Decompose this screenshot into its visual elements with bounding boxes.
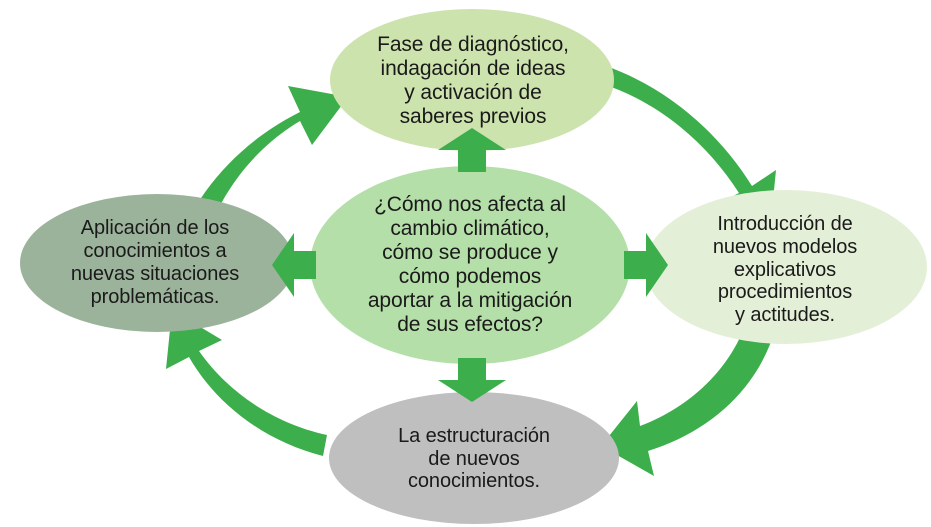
- node-ellipse-center[interactable]: [310, 166, 630, 364]
- arc-right-to-bottom-arrow: [601, 323, 775, 476]
- diagram-canvas: [0, 0, 931, 527]
- arc-bottom-to-left-arrow: [166, 310, 327, 456]
- node-ellipse-right[interactable]: [645, 190, 927, 344]
- node-ellipse-left[interactable]: [20, 194, 294, 332]
- cycle-diagram: Fase de diagnóstico, indagación de ideas…: [0, 0, 931, 527]
- node-ellipse-bottom[interactable]: [329, 392, 619, 524]
